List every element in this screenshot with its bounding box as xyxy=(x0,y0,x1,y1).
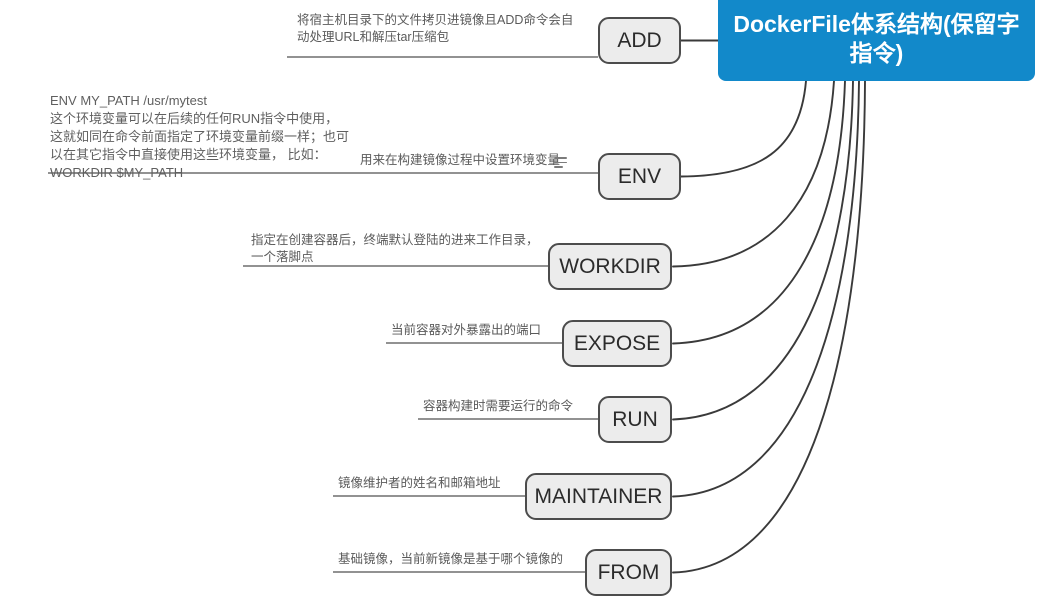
wire-env xyxy=(681,81,806,177)
note-env-detail: ENV MY_PATH /usr/mytest 这个环境变量可以在后续的任何RU… xyxy=(50,92,380,182)
topic-expose[interactable]: EXPOSE xyxy=(562,320,672,367)
wire-from xyxy=(673,81,865,573)
note-maintainer: 镜像维护者的姓名和邮箱地址 xyxy=(338,475,538,492)
note-expose: 当前容器对外暴露出的端口 xyxy=(391,322,591,339)
mindmap-canvas: DockerFile体系结构(保留字指令) 将宿主机目录下的文件拷贝进镜像且AD… xyxy=(0,0,1059,612)
notes-indicator-icon[interactable] xyxy=(554,157,567,168)
topic-add[interactable]: ADD xyxy=(598,17,681,64)
note-add: 将宿主机目录下的文件拷贝进镜像且ADD命令会自 动处理URL和解压tar压缩包 xyxy=(297,12,597,46)
note-from: 基础镜像，当前新镜像是基于哪个镜像的 xyxy=(338,551,598,568)
topic-workdir[interactable]: WORKDIR xyxy=(548,243,672,290)
wire-run xyxy=(673,81,853,420)
wire-expose xyxy=(673,81,845,344)
note-workdir: 指定在创建容器后，终端默认登陆的进来工作目录， 一个落脚点 xyxy=(251,232,551,266)
topic-from[interactable]: FROM xyxy=(585,549,672,596)
note-env: 用来在构建镜像过程中设置环境变量 xyxy=(360,152,580,169)
wire-maintainer xyxy=(673,81,859,497)
topic-maintainer[interactable]: MAINTAINER xyxy=(525,473,672,520)
root-title: DockerFile体系结构(保留字指令) xyxy=(732,10,1021,68)
wire-workdir xyxy=(673,81,834,267)
topic-run[interactable]: RUN xyxy=(598,396,672,443)
topic-env[interactable]: ENV xyxy=(598,153,681,200)
root-node[interactable]: DockerFile体系结构(保留字指令) xyxy=(718,0,1035,81)
note-run: 容器构建时需要运行的命令 xyxy=(423,398,623,415)
